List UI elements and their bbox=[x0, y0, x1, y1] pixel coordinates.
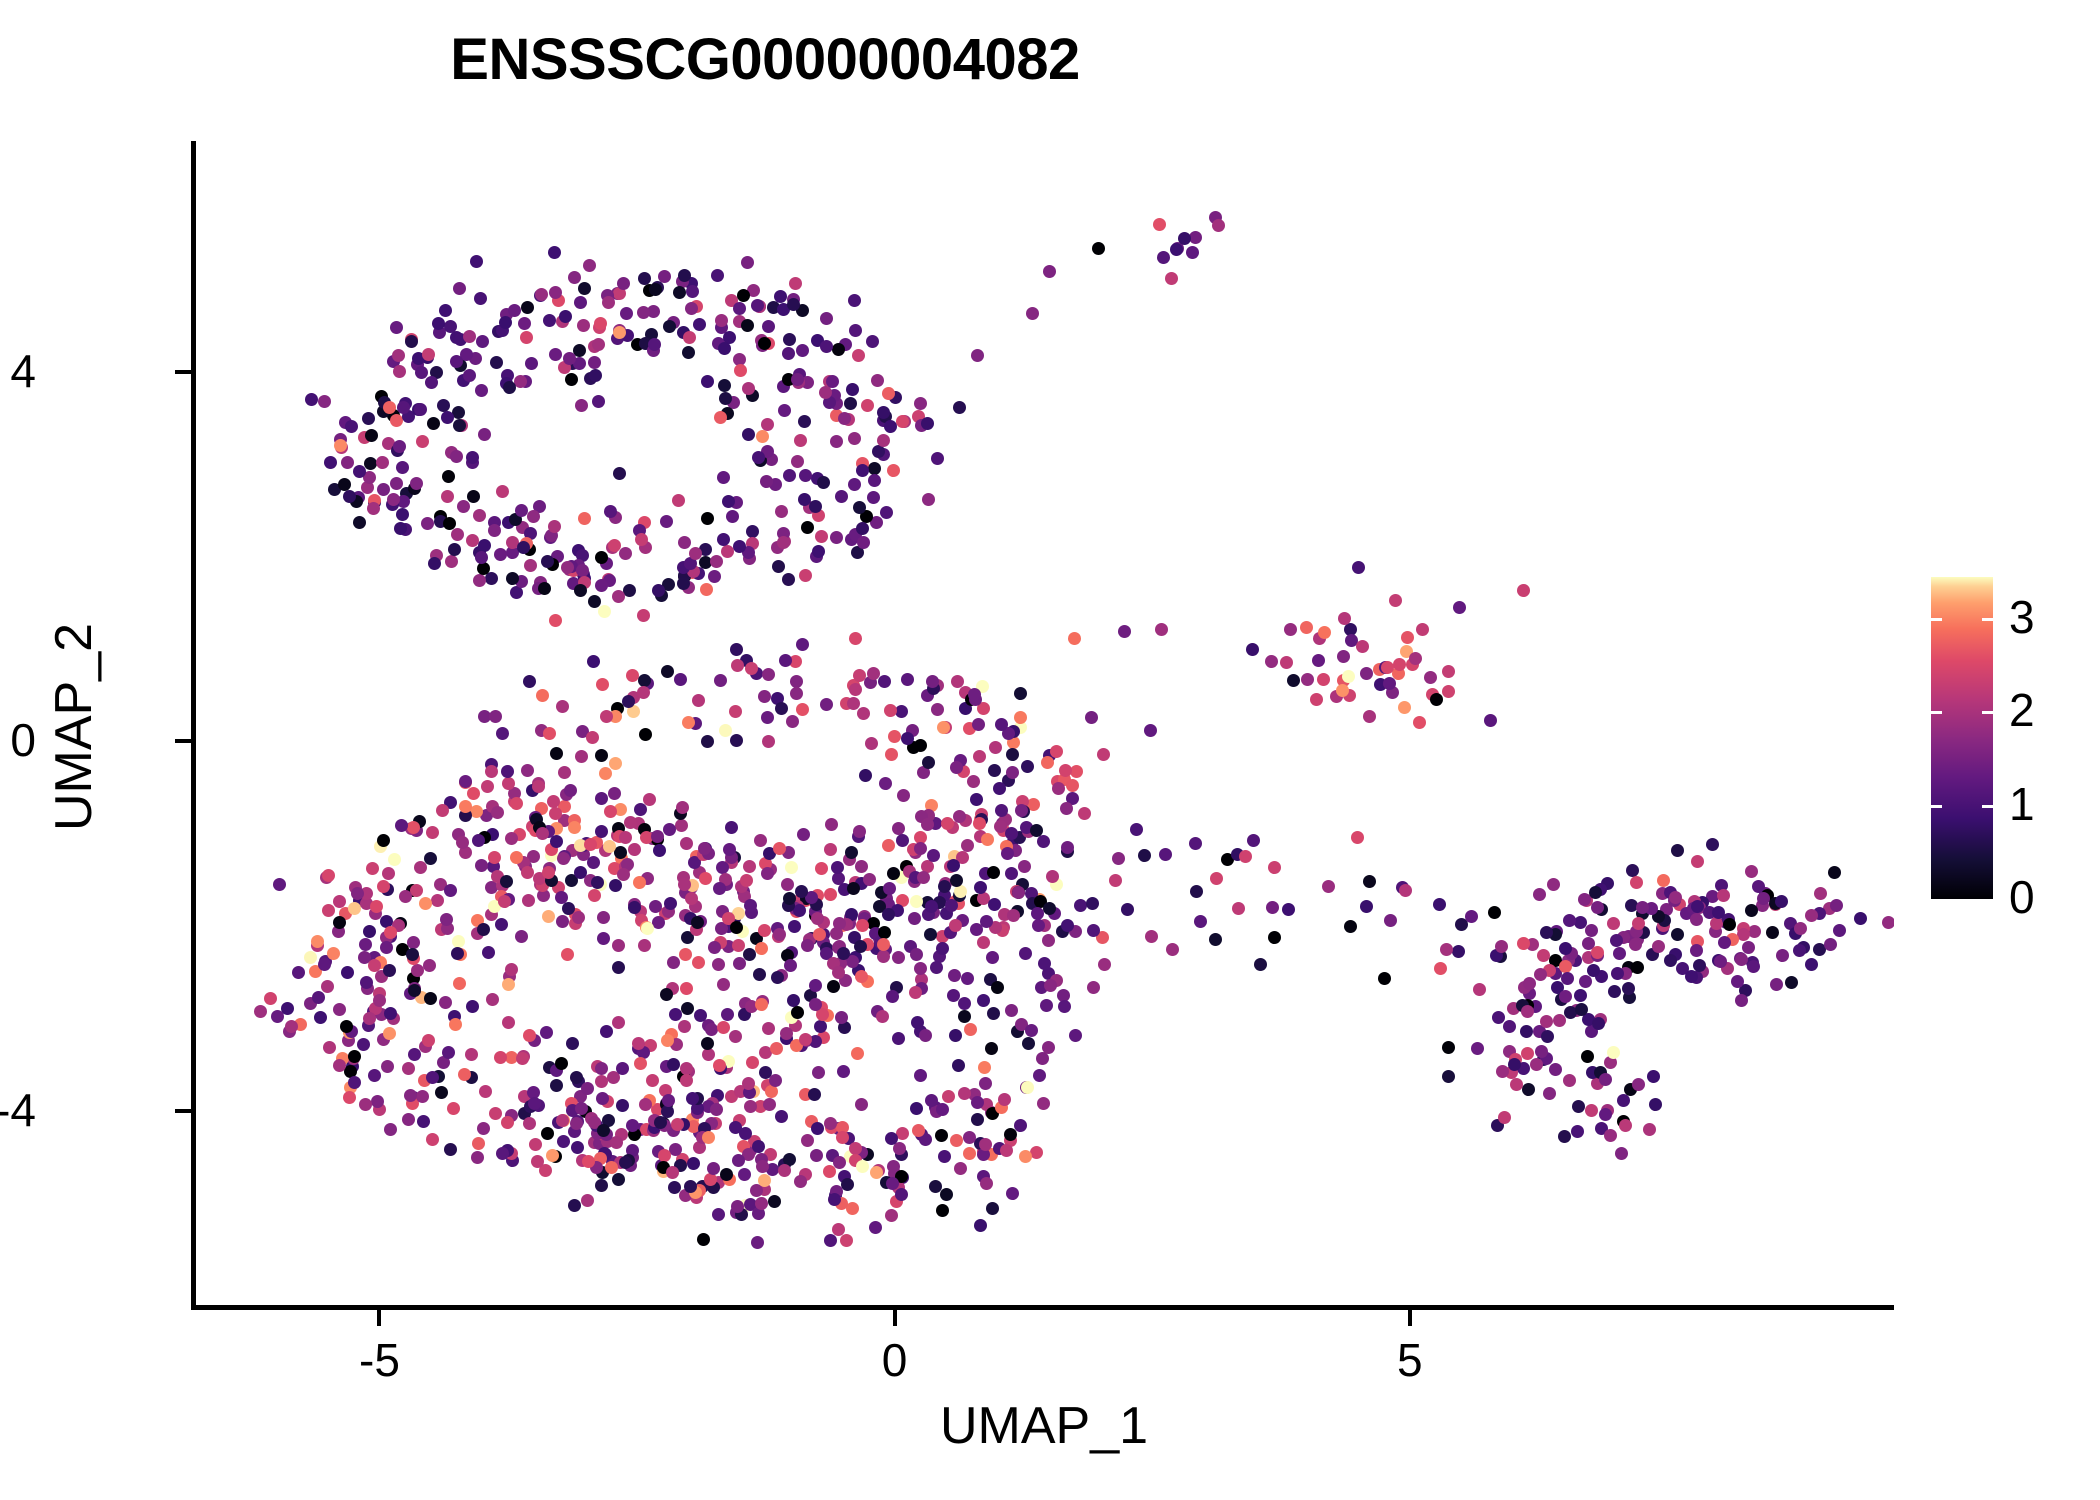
scatter-point bbox=[1086, 897, 1099, 910]
scatter-point bbox=[762, 1022, 775, 1035]
scatter-point bbox=[1351, 831, 1364, 844]
scatter-point bbox=[685, 302, 698, 315]
scatter-point bbox=[532, 780, 545, 793]
scatter-point bbox=[1484, 714, 1497, 727]
scatter-point bbox=[778, 404, 791, 417]
scatter-point bbox=[740, 874, 753, 887]
scatter-point bbox=[1336, 684, 1349, 697]
scatter-point bbox=[578, 282, 591, 295]
scatter-point bbox=[849, 324, 862, 337]
scatter-point bbox=[1001, 847, 1014, 860]
scatter-point bbox=[523, 1117, 536, 1130]
x-axis-line bbox=[191, 1305, 1894, 1310]
scatter-point bbox=[503, 381, 516, 394]
scatter-point bbox=[1381, 661, 1394, 674]
scatter-point bbox=[373, 994, 386, 1007]
scatter-point bbox=[1488, 906, 1501, 919]
scatter-point bbox=[917, 871, 930, 884]
scatter-point bbox=[1433, 898, 1446, 911]
scatter-point bbox=[895, 1188, 908, 1201]
scatter-point bbox=[949, 1029, 962, 1042]
scatter-point bbox=[592, 395, 605, 408]
scatter-point bbox=[612, 939, 625, 952]
scatter-point bbox=[1717, 889, 1730, 902]
scatter-point bbox=[340, 1020, 353, 1033]
scatter-point bbox=[758, 690, 771, 703]
scatter-point bbox=[535, 288, 548, 301]
scatter-point bbox=[1363, 710, 1376, 723]
scatter-point bbox=[633, 876, 646, 889]
scatter-point bbox=[592, 338, 605, 351]
scatter-point bbox=[396, 508, 409, 521]
scatter-point bbox=[678, 536, 691, 549]
scatter-point bbox=[566, 1037, 579, 1050]
scatter-point bbox=[383, 964, 396, 977]
scatter-point bbox=[910, 1102, 923, 1115]
scatter-point bbox=[717, 533, 730, 546]
scatter-point bbox=[1265, 655, 1278, 668]
scatter-point bbox=[1069, 1029, 1082, 1042]
scatter-point bbox=[393, 365, 406, 378]
scatter-point bbox=[394, 522, 407, 535]
scatter-point bbox=[1498, 1111, 1511, 1124]
scatter-point bbox=[648, 338, 661, 351]
scatter-point bbox=[583, 259, 596, 272]
scatter-point bbox=[318, 395, 331, 408]
scatter-point bbox=[763, 1098, 776, 1111]
scatter-point bbox=[673, 286, 686, 299]
scatter-point bbox=[521, 866, 534, 879]
scatter-point bbox=[832, 343, 845, 356]
scatter-point bbox=[431, 894, 444, 907]
umap-feature-plot-figure: ENSSSCG00000004082 40-4 -505 UMAP_1 UMAP… bbox=[0, 0, 2100, 1500]
scatter-point bbox=[993, 782, 1006, 795]
scatter-point bbox=[596, 678, 609, 691]
scatter-point bbox=[799, 469, 812, 482]
scatter-point bbox=[327, 947, 340, 960]
scatter-point bbox=[472, 1137, 485, 1150]
scatter-point bbox=[1610, 934, 1623, 947]
scatter-point bbox=[427, 417, 440, 430]
scatter-point bbox=[859, 769, 872, 782]
scatter-point bbox=[925, 1094, 938, 1107]
scatter-point bbox=[844, 397, 857, 410]
scatter-point bbox=[986, 1202, 999, 1215]
scatter-point bbox=[1571, 1125, 1584, 1138]
scatter-point bbox=[853, 501, 866, 514]
scatter-point bbox=[1517, 584, 1530, 597]
scatter-point bbox=[1254, 958, 1267, 971]
scatter-point bbox=[384, 1123, 397, 1136]
scatter-point bbox=[784, 959, 797, 972]
scatter-point bbox=[363, 925, 376, 938]
scatter-point bbox=[376, 456, 389, 469]
scatter-point bbox=[799, 569, 812, 582]
scatter-point bbox=[1144, 724, 1157, 737]
legend-tick-label: 0 bbox=[2009, 874, 2079, 920]
scatter-point bbox=[884, 704, 897, 717]
scatter-point bbox=[1389, 594, 1402, 607]
scatter-point bbox=[323, 1041, 336, 1054]
scatter-point bbox=[522, 894, 535, 907]
scatter-point bbox=[609, 757, 622, 770]
scatter-point bbox=[458, 1068, 471, 1081]
scatter-point bbox=[1342, 670, 1355, 683]
scatter-point bbox=[478, 428, 491, 441]
scatter-point bbox=[1097, 748, 1110, 761]
scatter-point bbox=[466, 1000, 479, 1013]
scatter-point bbox=[620, 307, 633, 320]
scatter-point bbox=[578, 512, 591, 525]
scatter-point bbox=[515, 930, 528, 943]
scatter-point bbox=[1398, 701, 1411, 714]
scatter-point bbox=[424, 992, 437, 1005]
scatter-point bbox=[820, 312, 833, 325]
color-legend bbox=[1931, 577, 1993, 899]
scatter-point bbox=[910, 895, 923, 908]
scatter-point bbox=[1036, 1052, 1049, 1065]
scatter-point bbox=[896, 415, 909, 428]
scatter-point bbox=[305, 393, 318, 406]
scatter-point bbox=[550, 835, 563, 848]
scatter-point bbox=[581, 1082, 594, 1095]
scatter-point bbox=[448, 543, 461, 556]
scatter-point bbox=[603, 840, 616, 853]
scatter-point bbox=[671, 1118, 684, 1131]
scatter-point bbox=[1337, 650, 1350, 663]
scatter-point bbox=[979, 1138, 992, 1151]
scatter-point bbox=[729, 705, 742, 718]
scatter-point bbox=[895, 705, 908, 718]
scatter-point bbox=[1471, 1042, 1484, 1055]
scatter-point bbox=[581, 1194, 594, 1207]
color-legend-gradient-bar bbox=[1931, 577, 1993, 899]
scatter-point bbox=[1535, 1045, 1548, 1058]
scatter-point bbox=[680, 982, 693, 995]
scatter-point bbox=[1775, 895, 1788, 908]
scatter-point bbox=[518, 317, 531, 330]
scatter-point bbox=[865, 737, 878, 750]
scatter-point bbox=[646, 1074, 659, 1087]
scatter-point bbox=[370, 900, 383, 913]
scatter-point bbox=[921, 417, 934, 430]
scatter-point bbox=[942, 1090, 955, 1103]
scatter-point bbox=[563, 352, 576, 365]
scatter-point bbox=[689, 547, 702, 560]
scatter-point bbox=[322, 904, 335, 917]
scatter-point bbox=[883, 882, 896, 895]
scatter-point bbox=[564, 784, 577, 797]
scatter-point bbox=[855, 1098, 868, 1111]
scatter-point bbox=[658, 270, 671, 283]
scatter-point bbox=[1540, 926, 1553, 939]
scatter-point bbox=[931, 452, 944, 465]
scatter-point bbox=[426, 826, 439, 839]
scatter-point bbox=[1166, 943, 1179, 956]
scatter-point bbox=[791, 455, 804, 468]
legend-tick-mark bbox=[1982, 711, 1993, 714]
scatter-point bbox=[663, 823, 676, 836]
scatter-point bbox=[726, 510, 739, 523]
scatter-point bbox=[597, 932, 610, 945]
scatter-point bbox=[1547, 878, 1560, 891]
scatter-point bbox=[901, 673, 914, 686]
scatter-point bbox=[856, 522, 869, 535]
page-title: ENSSSCG00000004082 bbox=[0, 26, 1530, 93]
scatter-point bbox=[516, 1052, 529, 1065]
scatter-point bbox=[1212, 219, 1225, 232]
scatter-point bbox=[707, 1162, 720, 1175]
scatter-point bbox=[667, 1058, 680, 1071]
scatter-point bbox=[397, 401, 410, 414]
scatter-point bbox=[1031, 907, 1044, 920]
scatter-point bbox=[613, 467, 626, 480]
scatter-point bbox=[849, 632, 862, 645]
scatter-point bbox=[1037, 1097, 1050, 1110]
scatter-point bbox=[425, 376, 438, 389]
scatter-point bbox=[1300, 621, 1313, 634]
scatter-point bbox=[634, 1057, 647, 1070]
scatter-point bbox=[972, 718, 985, 731]
scatter-point bbox=[574, 296, 587, 309]
scatter-point bbox=[787, 994, 800, 1007]
scatter-point bbox=[882, 839, 895, 852]
scatter-point bbox=[1776, 949, 1789, 962]
scatter-point bbox=[1747, 960, 1760, 973]
scatter-point bbox=[393, 440, 406, 453]
scatter-point bbox=[1178, 232, 1191, 245]
scatter-point bbox=[1022, 1037, 1035, 1050]
scatter-point bbox=[924, 928, 937, 941]
scatter-point bbox=[498, 895, 511, 908]
scatter-point bbox=[410, 477, 423, 490]
scatter-point bbox=[1061, 841, 1074, 854]
scatter-point bbox=[345, 420, 358, 433]
scatter-point bbox=[752, 1140, 765, 1153]
scatter-point bbox=[595, 579, 608, 592]
scatter-point bbox=[1591, 901, 1604, 914]
scatter-point bbox=[517, 541, 530, 554]
scatter-point bbox=[871, 374, 884, 387]
scatter-point bbox=[979, 1077, 992, 1090]
scatter-point bbox=[674, 673, 687, 686]
scatter-point bbox=[1540, 1015, 1553, 1028]
scatter-point bbox=[733, 957, 746, 970]
scatter-point bbox=[1442, 685, 1455, 698]
scatter-point bbox=[527, 510, 540, 523]
scatter-point bbox=[1723, 918, 1736, 931]
scatter-point bbox=[476, 335, 489, 348]
scatter-point bbox=[714, 674, 727, 687]
scatter-point bbox=[1153, 218, 1166, 231]
scatter-point bbox=[701, 1037, 714, 1050]
scatter-point bbox=[1632, 1078, 1645, 1091]
scatter-point bbox=[285, 1020, 298, 1033]
scatter-point bbox=[856, 1160, 869, 1173]
scatter-point bbox=[321, 980, 334, 993]
scatter-point bbox=[846, 1202, 859, 1215]
scatter-point bbox=[452, 406, 465, 419]
scatter-point bbox=[1517, 937, 1530, 950]
scatter-point bbox=[950, 874, 963, 887]
scatter-point bbox=[711, 269, 724, 282]
scatter-point bbox=[919, 1029, 932, 1042]
scatter-point bbox=[746, 1056, 759, 1069]
scatter-point bbox=[451, 947, 464, 960]
scatter-point bbox=[453, 282, 466, 295]
scatter-point bbox=[441, 490, 454, 503]
scatter-point bbox=[479, 1085, 492, 1098]
scatter-point bbox=[1492, 1011, 1505, 1024]
scatter-point bbox=[888, 730, 901, 743]
x-tick-label: 0 bbox=[835, 1337, 955, 1383]
y-tick-label: 0 bbox=[0, 717, 36, 763]
scatter-point bbox=[744, 899, 757, 912]
scatter-point bbox=[612, 961, 625, 974]
scatter-point bbox=[612, 1016, 625, 1029]
scatter-point bbox=[1523, 977, 1536, 990]
scatter-point bbox=[849, 683, 862, 696]
scatter-point bbox=[491, 806, 504, 819]
scatter-point bbox=[782, 573, 795, 586]
scatter-point bbox=[1098, 958, 1111, 971]
scatter-point bbox=[681, 1002, 694, 1015]
scatter-point bbox=[664, 897, 677, 910]
scatter-point bbox=[1473, 983, 1486, 996]
scatter-point bbox=[616, 1099, 629, 1112]
scatter-point bbox=[801, 939, 814, 952]
scatter-point bbox=[1006, 748, 1019, 761]
scatter-point bbox=[783, 469, 796, 482]
scatter-point bbox=[510, 797, 523, 810]
scatter-point bbox=[523, 1029, 536, 1042]
scatter-point bbox=[967, 775, 980, 788]
scatter-point bbox=[348, 1050, 361, 1063]
scatter-point bbox=[666, 1166, 679, 1179]
scatter-point bbox=[1520, 1025, 1533, 1038]
scatter-point bbox=[815, 862, 828, 875]
scatter-point bbox=[1718, 936, 1731, 949]
scatter-point bbox=[941, 817, 954, 830]
scatter-point bbox=[1266, 901, 1279, 914]
scatter-point bbox=[392, 349, 405, 362]
scatter-point bbox=[717, 1021, 730, 1034]
scatter-point bbox=[368, 1069, 381, 1082]
scatter-point bbox=[435, 1086, 448, 1099]
scatter-point bbox=[815, 530, 828, 543]
scatter-point bbox=[1109, 874, 1122, 887]
scatter-point bbox=[937, 721, 950, 734]
scatter-point bbox=[1130, 823, 1143, 836]
scatter-point bbox=[1430, 693, 1443, 706]
scatter-point bbox=[922, 493, 935, 506]
scatter-point bbox=[467, 787, 480, 800]
scatter-point bbox=[449, 1018, 462, 1031]
scatter-point bbox=[1058, 1000, 1071, 1013]
scatter-point bbox=[1416, 623, 1429, 636]
scatter-point bbox=[876, 1010, 889, 1023]
scatter-point bbox=[1824, 938, 1837, 951]
scatter-point bbox=[1632, 917, 1645, 930]
scatter-point bbox=[514, 375, 527, 388]
scatter-point bbox=[853, 825, 866, 838]
scatter-point bbox=[322, 869, 335, 882]
scatter-point bbox=[677, 577, 690, 590]
scatter-point bbox=[367, 502, 380, 515]
scatter-point bbox=[1012, 886, 1025, 899]
legend-tick-label: 2 bbox=[2009, 687, 2079, 733]
scatter-point bbox=[987, 866, 1000, 879]
scatter-point bbox=[1322, 880, 1335, 893]
scatter-point bbox=[1814, 887, 1827, 900]
scatter-point bbox=[1040, 999, 1053, 1012]
scatter-point bbox=[628, 843, 641, 856]
scatter-point bbox=[935, 1129, 948, 1142]
scatter-point bbox=[697, 1233, 710, 1246]
scatter-point bbox=[595, 792, 608, 805]
scatter-point bbox=[541, 555, 554, 568]
scatter-point bbox=[1805, 958, 1818, 971]
scatter-point bbox=[417, 1115, 430, 1128]
scatter-point bbox=[1549, 1063, 1562, 1076]
scatter-point bbox=[741, 319, 754, 332]
scatter-point bbox=[667, 956, 680, 969]
scatter-point bbox=[737, 289, 750, 302]
scatter-point bbox=[687, 1157, 700, 1170]
scatter-point bbox=[812, 1066, 825, 1079]
scatter-point bbox=[1541, 1030, 1554, 1043]
scatter-point bbox=[914, 962, 927, 975]
scatter-point bbox=[495, 918, 508, 931]
scatter-point bbox=[502, 777, 515, 790]
scatter-point bbox=[494, 548, 507, 561]
scatter-point bbox=[789, 277, 802, 290]
scatter-point bbox=[1442, 665, 1455, 678]
scatter-point bbox=[849, 1142, 862, 1155]
scatter-point bbox=[971, 1096, 984, 1109]
scatter-point bbox=[808, 1088, 821, 1101]
scatter-point bbox=[1735, 994, 1748, 1007]
scatter-point bbox=[1770, 978, 1783, 991]
scatter-point bbox=[951, 675, 964, 688]
scatter-point bbox=[1043, 265, 1056, 278]
scatter-point bbox=[719, 724, 732, 737]
scatter-point bbox=[755, 998, 768, 1011]
scatter-point bbox=[938, 1150, 951, 1163]
scatter-point bbox=[1019, 947, 1032, 960]
scatter-point bbox=[911, 1016, 924, 1029]
scatter-point bbox=[885, 1209, 898, 1222]
scatter-point bbox=[958, 997, 971, 1010]
scatter-point bbox=[490, 356, 503, 369]
scatter-point bbox=[710, 555, 723, 568]
scatter-point bbox=[813, 928, 826, 941]
scatter-point bbox=[845, 846, 858, 859]
scatter-point bbox=[1745, 865, 1758, 878]
scatter-point bbox=[505, 963, 518, 976]
scatter-point bbox=[598, 605, 611, 618]
scatter-point bbox=[1599, 1073, 1612, 1086]
scatter-point bbox=[922, 756, 935, 769]
scatter-point bbox=[742, 1077, 755, 1090]
scatter-point bbox=[576, 564, 589, 577]
scatter-point bbox=[426, 1133, 439, 1146]
scatter-point bbox=[333, 916, 346, 929]
scatter-point bbox=[1742, 941, 1755, 954]
scatter-point bbox=[686, 1092, 699, 1105]
scatter-point bbox=[1246, 643, 1259, 656]
scatter-point bbox=[958, 1010, 971, 1023]
